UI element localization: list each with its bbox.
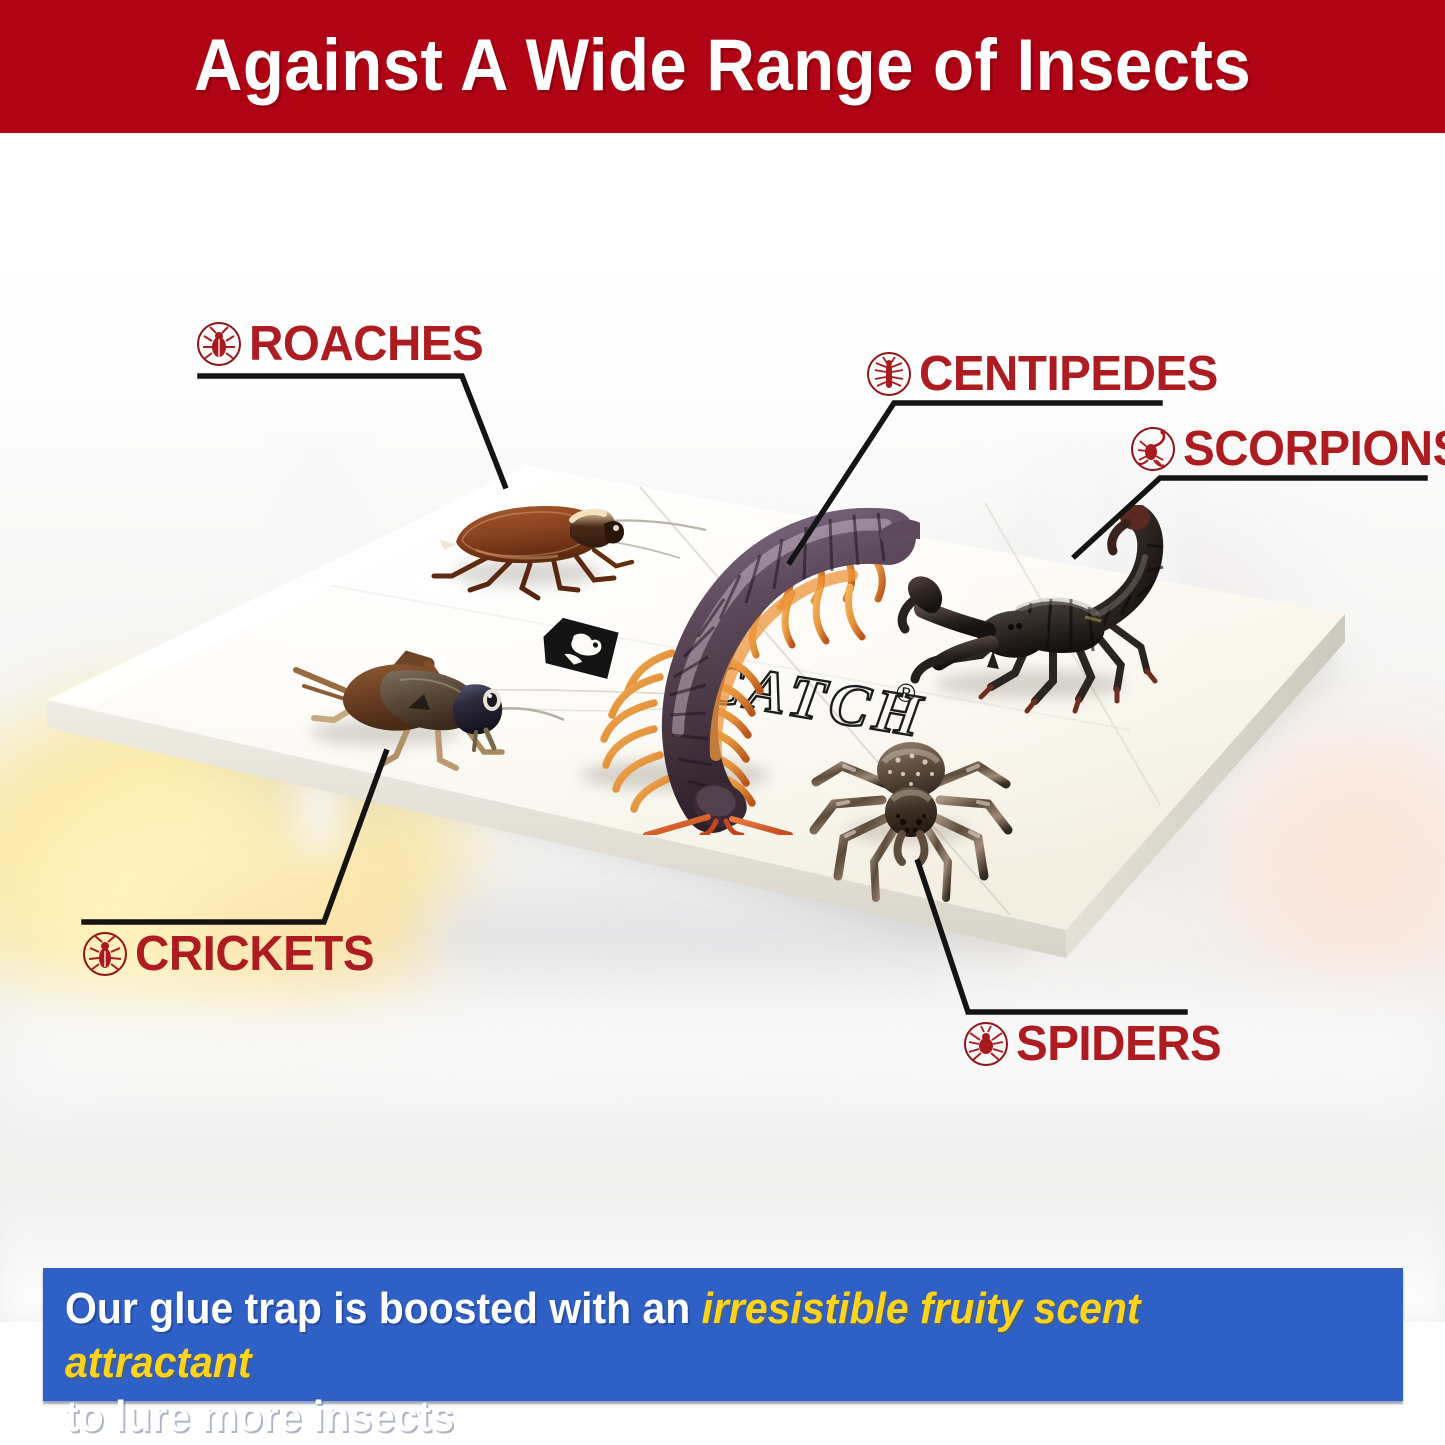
- callout-scorpions[interactable]: SCORPIONS: [1130, 423, 1445, 475]
- spider-icon: [963, 1021, 1009, 1067]
- scorpion-icon: [1130, 426, 1176, 472]
- centipede-icon: [866, 351, 912, 397]
- callout-leader-lines: [0, 0, 1445, 1445]
- callout-centipedes[interactable]: CENTIPEDES: [866, 348, 1227, 400]
- cricket-icon: [82, 931, 128, 977]
- product-infographic: CATCH ® CATCH ®: [0, 0, 1445, 1445]
- callout-crickets-label: CRICKETS: [135, 928, 374, 980]
- footer-text-line2: to lure more insects: [65, 1392, 454, 1441]
- footer-banner: Our glue trap is boosted with an irresis…: [43, 1268, 1403, 1401]
- callout-crickets[interactable]: CRICKETS: [82, 928, 381, 980]
- header-banner: Against A Wide Range of Insects: [0, 0, 1445, 133]
- roach-icon: [196, 321, 242, 367]
- callout-roaches-label: ROACHES: [249, 318, 483, 370]
- footer-text: Our glue trap is boosted with an irresis…: [65, 1282, 1300, 1444]
- callout-scorpions-label: SCORPIONS: [1183, 423, 1445, 475]
- callout-centipedes-label: CENTIPEDES: [919, 348, 1218, 400]
- callout-spiders-label: SPIDERS: [1016, 1018, 1221, 1070]
- callout-roaches[interactable]: ROACHES: [196, 318, 491, 370]
- footer-text-line1: Our glue trap is boosted with an: [65, 1284, 690, 1333]
- page-title: Against A Wide Range of Insects: [58, 26, 1387, 106]
- callout-spiders[interactable]: SPIDERS: [963, 1018, 1228, 1070]
